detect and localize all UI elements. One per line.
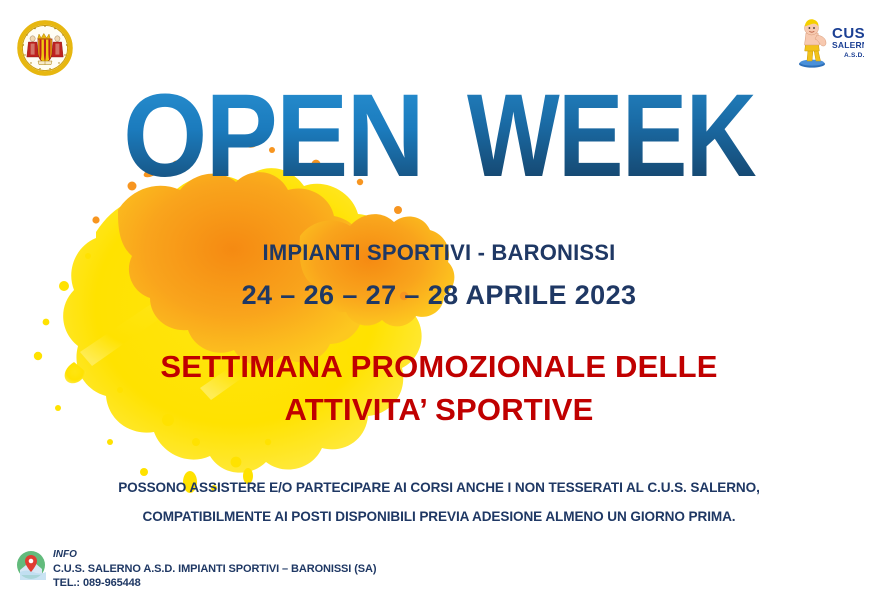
footer-phone: TEL.: 089-965448 xyxy=(53,576,376,590)
university-of-salerno-crest-icon xyxy=(17,20,73,76)
body-line-2: COMPATIBILMENTE AI POSTI DISPONIBILI PRE… xyxy=(13,508,865,524)
svg-text:SALERNO: SALERNO xyxy=(832,40,864,50)
title-word-open: OPEN xyxy=(123,72,423,194)
headline-line-1: SETTIMANA PROMOZIONALE DELLE xyxy=(0,349,878,385)
footer-address: C.U.S. SALERNO A.S.D. IMPIANTI SPORTIVI … xyxy=(53,562,376,576)
map-pin-icon xyxy=(16,550,46,580)
cus-salerno-logo: CUS SALERNO A.S.D. xyxy=(792,16,864,70)
dates-line: 24 – 26 – 27 – 28 APRILE 2023 xyxy=(0,280,878,311)
page-title: OPEN WEEK xyxy=(0,72,878,194)
footer-info-block: INFO C.U.S. SALERNO A.S.D. IMPIANTI SPOR… xyxy=(16,548,376,590)
body-line-1: POSSONO ASSISTERE E/O PARTECIPARE AI COR… xyxy=(13,479,865,495)
svg-text:A.S.D.: A.S.D. xyxy=(844,52,864,59)
poster-canvas: CUS SALERNO A.S.D. OPEN WEEK xyxy=(0,0,878,606)
title-word-week: WEEK xyxy=(467,72,756,194)
venue-line: IMPIANTI SPORTIVI - BARONISSI xyxy=(0,240,878,266)
headline-line-2: ATTIVITA’ SPORTIVE xyxy=(0,392,878,428)
footer-info-label: INFO xyxy=(53,549,376,562)
